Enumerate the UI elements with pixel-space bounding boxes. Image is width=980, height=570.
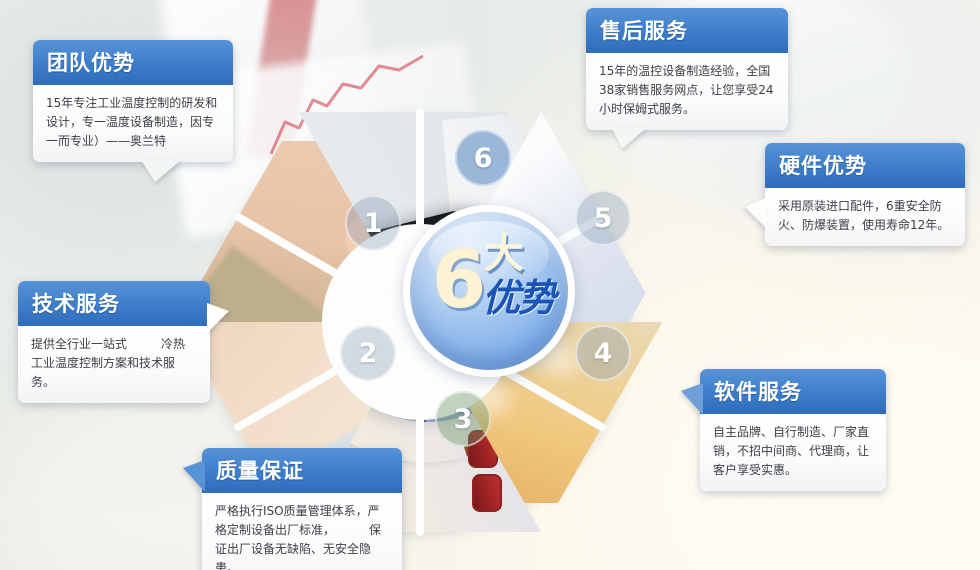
segment-number-6[interactable]: 6 [455, 130, 511, 186]
callout-hardware-tail [745, 197, 767, 229]
callout-software-body: 自主品牌、自行制造、厂家直销，不招中间商、代理商，让客户享受实惠。 [700, 414, 886, 491]
center-big-label: 大 [484, 234, 524, 274]
center-badge[interactable]: 6 大 优势 [403, 205, 575, 377]
callout-team-tail [141, 160, 181, 182]
callout-card-tech[interactable]: 技术服务 提供全行业一站式冷热工业温度控制方案和技术服务。 [18, 281, 210, 403]
infographic-canvas: LIVE STOCK MARKET DATA INTC 440.86 OPEN … [0, 0, 980, 570]
center-badge-inner: 6 大 优势 [410, 212, 568, 370]
callout-quality-body: 严格执行ISO质量管理体系，严格定制设备出厂标准，保证出厂设备无缺陷、无安全隐患… [202, 493, 402, 570]
callout-quality-line3: 厂设备无缺陷、无安全隐患。 [215, 542, 371, 570]
callout-after-sales-title: 售后服务 [586, 8, 788, 53]
callout-team-body: 15年专注工业温度控制的研发和设计，专一温度设备制造，因专一而专业）——奥兰特 [33, 85, 233, 162]
callout-tech-body: 提供全行业一站式冷热工业温度控制方案和技术服务。 [18, 326, 210, 403]
callout-quality-tail [183, 460, 205, 492]
callout-software-tail [681, 383, 703, 415]
callout-tech-line1: 提供全行业一站式 [31, 337, 127, 351]
callout-card-after-sales[interactable]: 售后服务 15年的温控设备制造经验，全国38家销售服务网点，让您享受24小时保姆… [586, 8, 788, 130]
callout-hardware-title: 硬件优势 [765, 143, 965, 188]
callout-software-title: 软件服务 [700, 369, 886, 414]
callout-hardware-body: 采用原装进口配件，6重安全防火、防爆装置，使用寿命12年。 [765, 188, 965, 246]
segment-number-5[interactable]: 5 [575, 190, 631, 246]
callout-tech-title: 技术服务 [18, 281, 210, 326]
callout-after-sales-body: 15年的温控设备制造经验，全国38家销售服务网点，让您享受24小时保姆式服务。 [586, 53, 788, 130]
segment-number-1[interactable]: 1 [345, 195, 401, 251]
callout-after-sales-tail [612, 128, 646, 149]
callout-card-team[interactable]: 团队优势 15年专注工业温度控制的研发和设计，专一温度设备制造，因专一而专业）—… [33, 40, 233, 162]
callout-quality-title: 质量保证 [202, 448, 402, 493]
segment-number-3[interactable]: 3 [435, 391, 491, 447]
callout-card-software[interactable]: 软件服务 自主品牌、自行制造、厂家直销，不招中间商、代理商，让客户享受实惠。 [700, 369, 886, 491]
callout-quality-line2: 定制设备出厂标准， [227, 523, 335, 537]
center-number: 6 [432, 242, 486, 320]
callout-tech-tail [207, 303, 229, 333]
callout-team-title: 团队优势 [33, 40, 233, 85]
center-script-label: 优势 [482, 278, 554, 318]
callout-card-hardware[interactable]: 硬件优势 采用原装进口配件，6重安全防火、防爆装置，使用寿命12年。 [765, 143, 965, 246]
segment-number-4[interactable]: 4 [575, 325, 631, 381]
callout-card-quality[interactable]: 质量保证 严格执行ISO质量管理体系，严格定制设备出厂标准，保证出厂设备无缺陷、… [202, 448, 402, 570]
segment-number-2[interactable]: 2 [340, 325, 396, 381]
